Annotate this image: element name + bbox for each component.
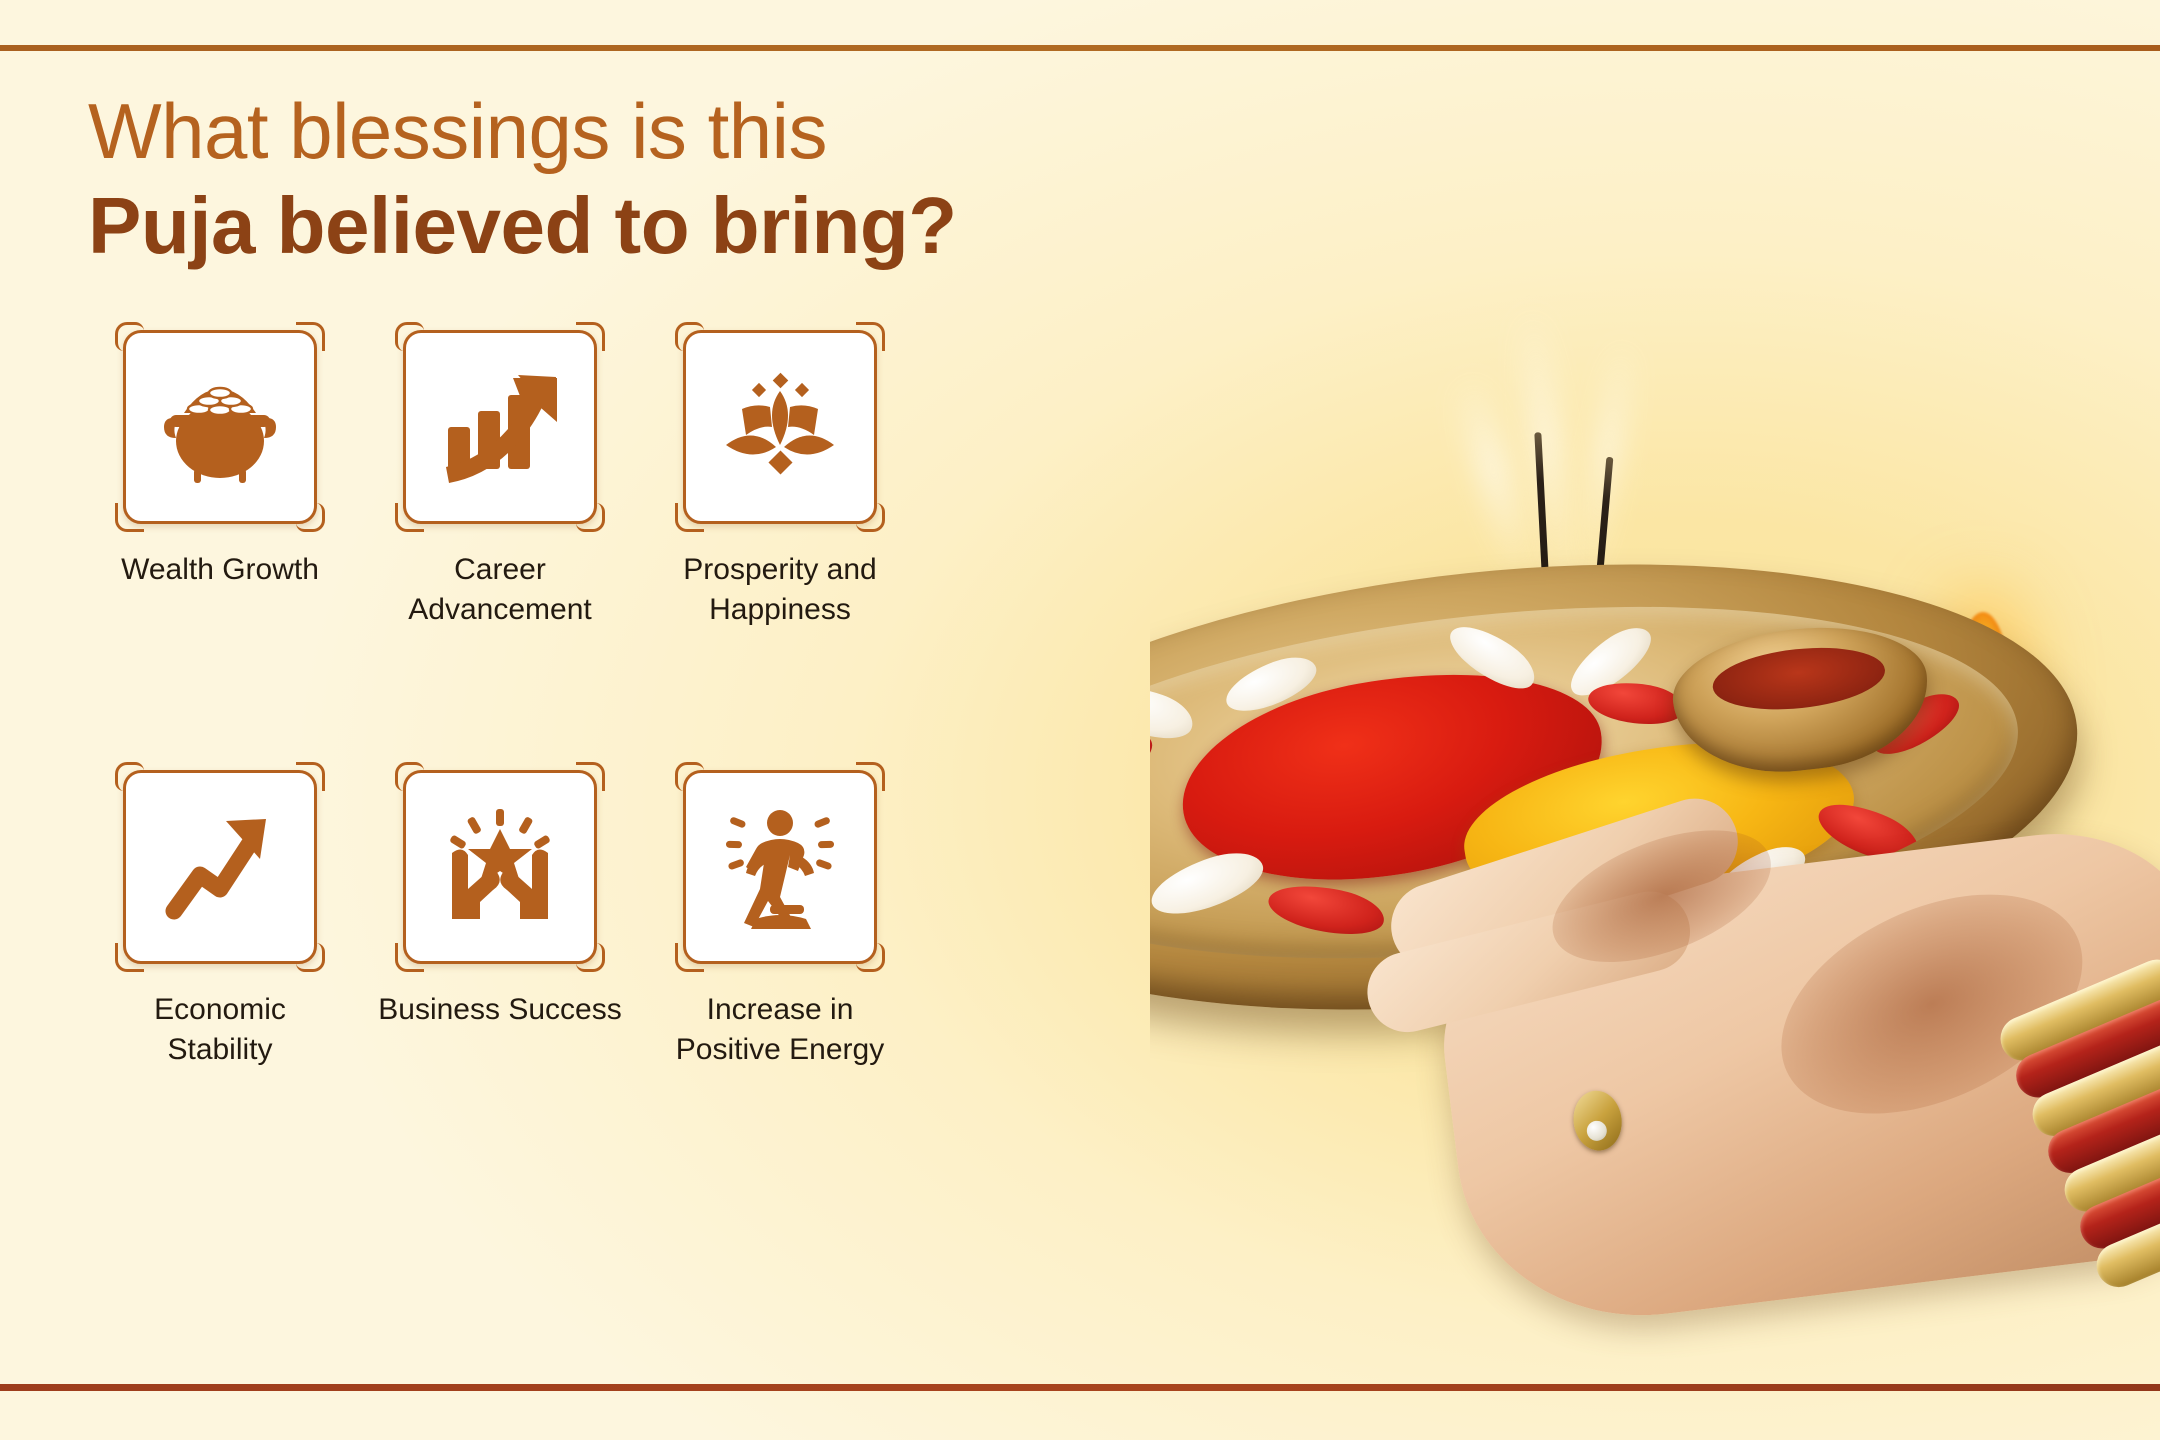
blessings-row-2: Economic Stability bbox=[80, 770, 920, 1070]
top-divider-rule bbox=[0, 45, 2160, 51]
blessing-item-wealth-growth[interactable]: Wealth Growth bbox=[80, 330, 360, 630]
energetic-person-icon bbox=[714, 801, 846, 933]
blessing-item-positive-energy[interactable]: Increase in Positive Energy bbox=[640, 770, 920, 1070]
lotus-flower-icon bbox=[714, 361, 846, 493]
blessing-item-business-success[interactable]: Business Success bbox=[360, 770, 640, 1070]
blessing-item-career-advancement[interactable]: Career Advancement bbox=[360, 330, 640, 630]
bottom-divider-rule bbox=[0, 1384, 2160, 1391]
heading-line-2: Puja believed to bring? bbox=[88, 184, 1108, 268]
growth-chart-arrow-icon bbox=[434, 361, 566, 493]
puja-blessings-poster: What blessings is this Puja believed to … bbox=[0, 0, 2160, 1440]
pot-of-gold-icon bbox=[154, 361, 286, 493]
incense-smoke bbox=[1452, 372, 1539, 582]
icon-tile bbox=[123, 770, 317, 964]
page-title: What blessings is this Puja believed to … bbox=[88, 92, 1108, 268]
icon-tile bbox=[683, 330, 877, 524]
blessing-label: Business Success bbox=[378, 990, 621, 1030]
icon-tile bbox=[683, 770, 877, 964]
hands-holding-star-icon bbox=[434, 801, 566, 933]
blessings-row-1: Wealth Growth bbox=[80, 330, 920, 630]
icon-tile bbox=[123, 330, 317, 524]
blessing-label: Career Advancement bbox=[408, 550, 591, 630]
finger-ring bbox=[1570, 1088, 1625, 1153]
blessings-grid: Wealth Growth bbox=[80, 330, 920, 1070]
blessing-label: Prosperity and Happiness bbox=[683, 550, 876, 630]
zigzag-up-arrow-icon bbox=[154, 801, 286, 933]
icon-tile bbox=[403, 330, 597, 524]
blessing-item-prosperity-happiness[interactable]: Prosperity and Happiness bbox=[640, 330, 920, 630]
puja-thali-photo bbox=[1150, 52, 2160, 1384]
icon-tile bbox=[403, 770, 597, 964]
blessing-item-economic-stability[interactable]: Economic Stability bbox=[80, 770, 360, 1070]
blessing-label: Wealth Growth bbox=[121, 550, 319, 590]
heading-line-1: What blessings is this bbox=[88, 92, 1108, 170]
hand-holding-thali bbox=[1427, 817, 2160, 1336]
blessing-label: Increase in Positive Energy bbox=[676, 990, 884, 1070]
blessing-label: Economic Stability bbox=[154, 990, 286, 1070]
